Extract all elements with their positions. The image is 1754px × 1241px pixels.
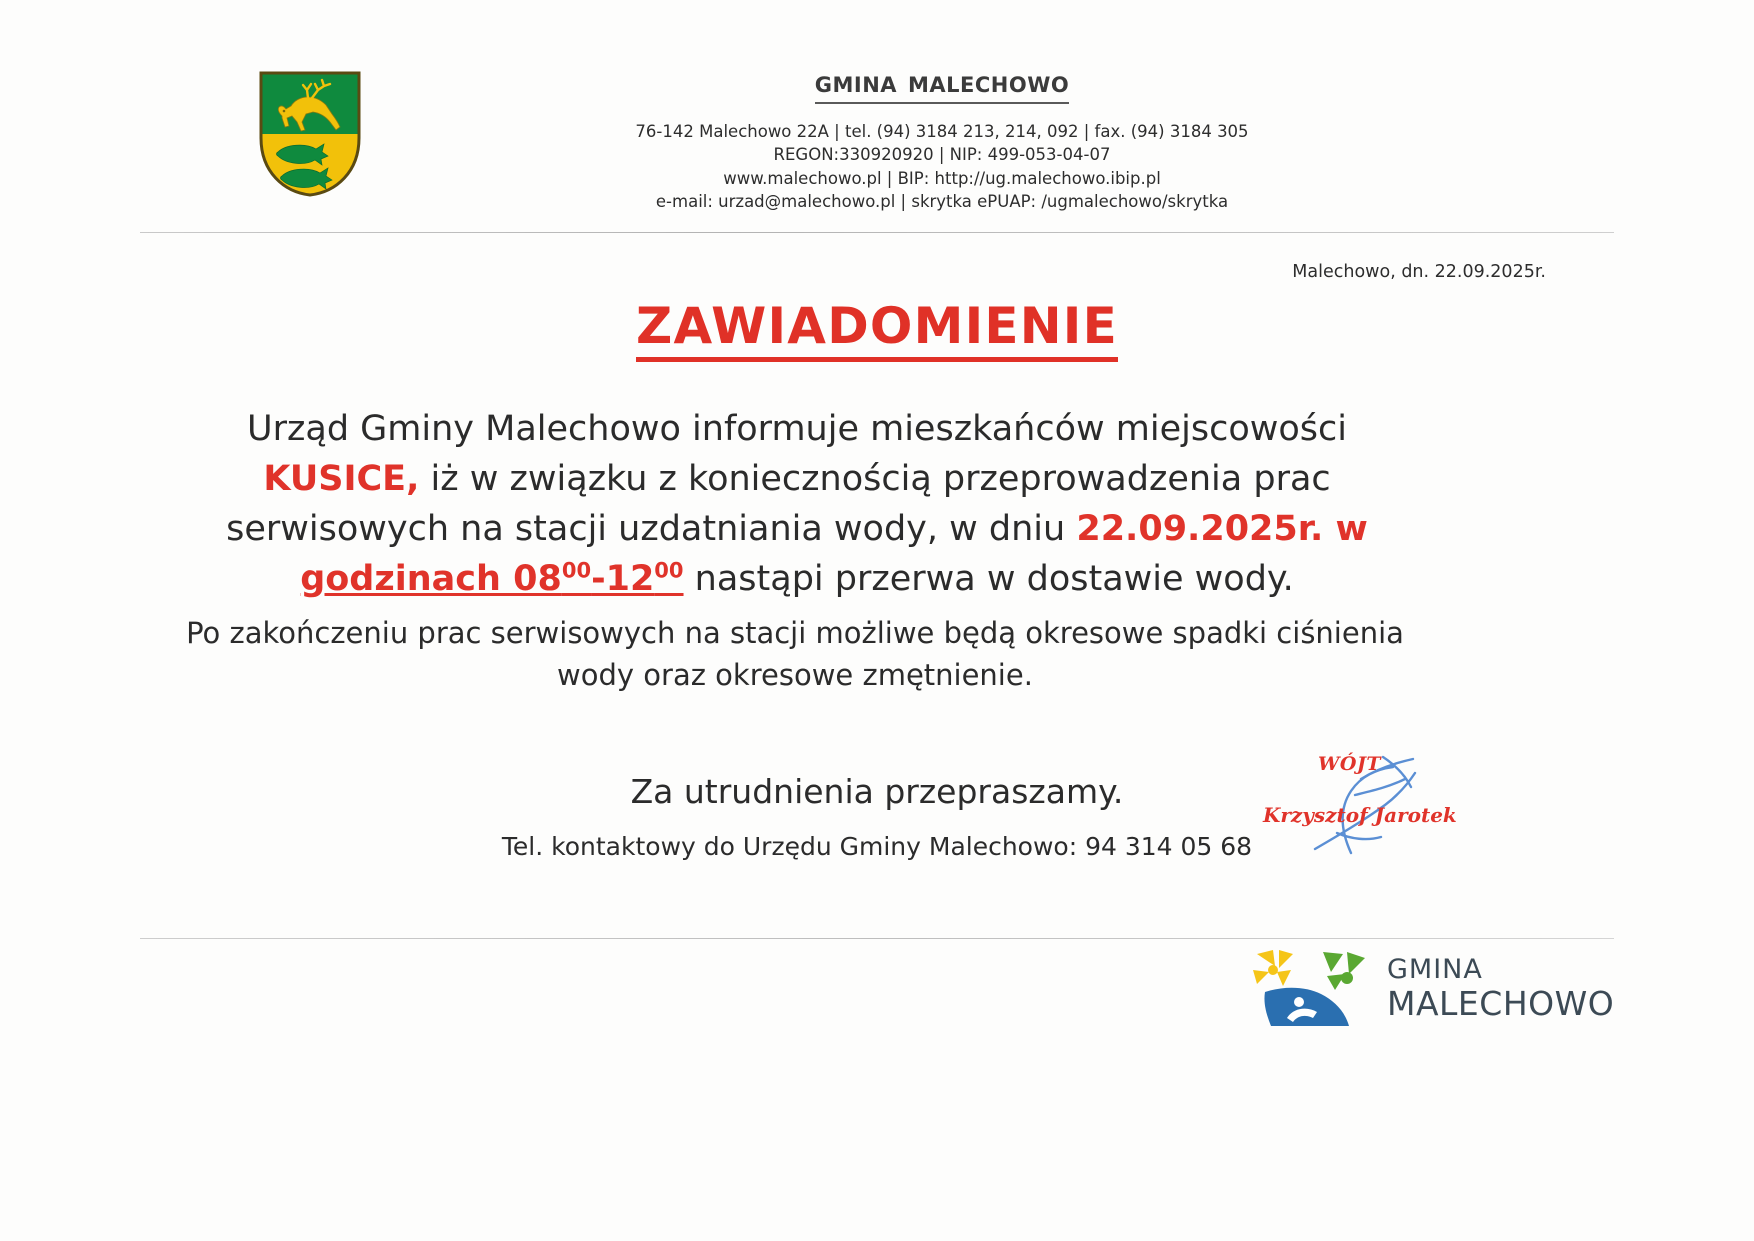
footer-logo-wordmark: GMINA MALECHOWO xyxy=(1387,956,1614,1020)
signature-block: WÓJT Krzysztof Jarotek xyxy=(1255,735,1475,865)
place-and-date: Malechowo, dn. 22.09.2025r. xyxy=(1292,262,1546,282)
coat-of-arms-icon xyxy=(258,70,362,198)
notice-hours-dash: -12 xyxy=(591,559,654,599)
contact-line-regon-nip: REGON:330920920 | NIP: 499-053-04-07 xyxy=(430,143,1454,166)
notice-date-highlight: 22.09.2025r. w xyxy=(1076,509,1368,549)
notice-part-3: nastąpi przerwa w dostawie wody. xyxy=(695,559,1294,599)
organization-title: Gmina Malechowo xyxy=(815,66,1069,104)
document-page: Gmina Malechowo 76-142 Malechowo 22A | t… xyxy=(0,0,1754,1241)
notice-hours-sup-start: 00 xyxy=(562,558,591,582)
footer-logo-line-1: GMINA xyxy=(1387,956,1614,983)
contact-details: 76-142 Malechowo 22A | tel. (94) 3184 21… xyxy=(430,120,1454,214)
header-text-block: Gmina Malechowo 76-142 Malechowo 22A | t… xyxy=(430,66,1454,214)
signature-role: WÓJT xyxy=(1318,753,1381,775)
notice-main-paragraph: Urząd Gminy Malechowo informuje mieszkań… xyxy=(168,404,1426,604)
footer-logo: GMINA MALECHOWO xyxy=(1249,944,1579,1034)
notice-hours-sup-end: 00 xyxy=(654,558,683,582)
notice-hours-label: godzinach 08 xyxy=(300,559,562,599)
notice-locality: KUSICE, xyxy=(263,459,419,499)
contact-line-email-epuap: e-mail: urzad@malechowo.pl | skrytka ePU… xyxy=(430,190,1454,213)
document-header: Gmina Malechowo 76-142 Malechowo 22A | t… xyxy=(0,48,1754,213)
gmina-malechowo-logo-icon xyxy=(1249,948,1379,1030)
document-title-text: ZAWIADOMIENIE xyxy=(636,298,1118,362)
signature-name: Krzysztof Jarotek xyxy=(1263,803,1457,827)
notice-contact-phone: Tel. kontaktowy do Urzędu Gminy Malechow… xyxy=(0,832,1754,861)
notice-hours-highlight: godzinach 0800-1200 xyxy=(300,559,683,599)
document-title: ZAWIADOMIENIE xyxy=(0,298,1754,362)
footer-divider xyxy=(140,938,1614,939)
header-divider xyxy=(140,232,1614,233)
contact-line-address: 76-142 Malechowo 22A | tel. (94) 3184 21… xyxy=(430,120,1454,143)
notice-part-1: Urząd Gminy Malechowo informuje mieszkań… xyxy=(247,409,1347,449)
footer-logo-line-2: MALECHOWO xyxy=(1387,987,1614,1020)
contact-line-web-bip: www.malechowo.pl | BIP: http://ug.malech… xyxy=(430,167,1454,190)
notice-apology: Za utrudnienia przepraszamy. xyxy=(0,772,1754,811)
notice-followup-note: Po zakończeniu prac serwisowych na stacj… xyxy=(150,613,1440,697)
